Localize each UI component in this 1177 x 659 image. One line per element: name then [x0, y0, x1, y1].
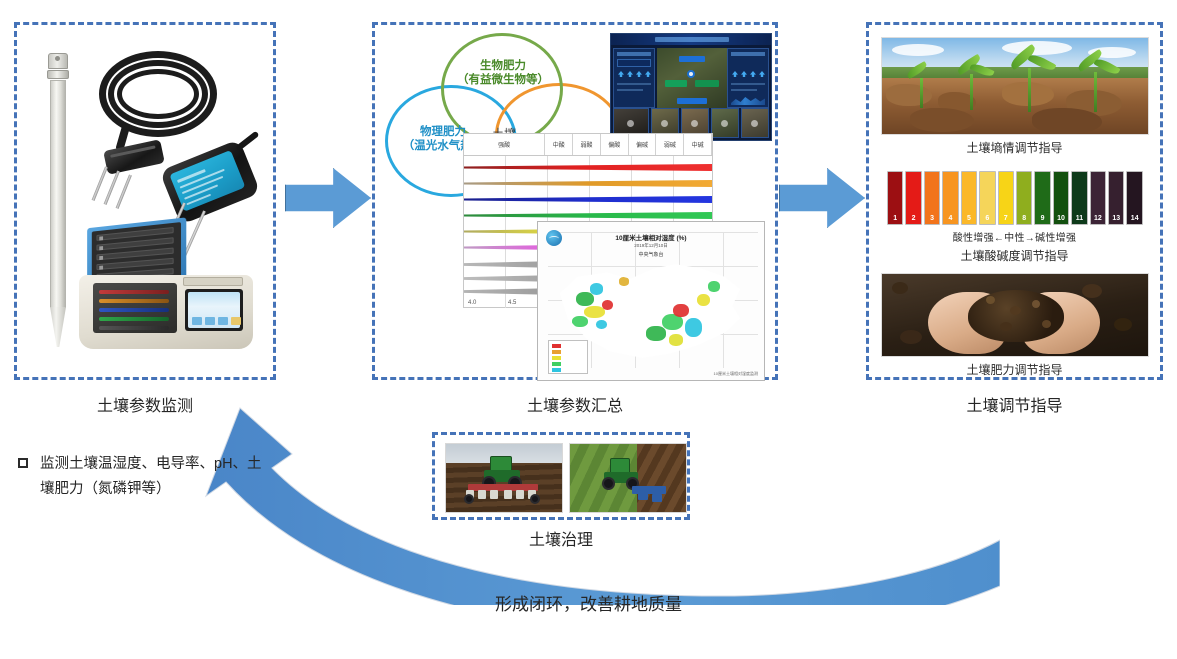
ph-swatch: 8 — [1016, 171, 1032, 225]
ph-swatch-label: 5 — [962, 215, 976, 222]
square-bullet-icon — [18, 458, 28, 468]
dashboard-right-panel — [727, 48, 769, 108]
ph-swatch: 9 — [1034, 171, 1050, 225]
sensor-head — [103, 139, 165, 175]
ph-swatch: 3 — [924, 171, 940, 225]
ph-table-header-cell: 偏酸 — [601, 134, 629, 155]
ph-swatch: 2 — [905, 171, 921, 225]
test-strip — [99, 326, 169, 330]
ph-swatch: 1 — [887, 171, 903, 225]
sensor-prong — [104, 170, 120, 205]
ph-swatch: 7 — [998, 171, 1014, 225]
ph-table-header-cell: 中酸 — [545, 134, 573, 155]
ph-swatch-label: 11 — [1072, 215, 1086, 222]
dashboard-title-bar — [611, 34, 771, 45]
analyzer-test-tray — [93, 283, 177, 333]
ph-table-header-cell: 强酸 — [464, 134, 545, 155]
china-soil-moisture-map: 10厘米土壤相对湿度 (%) 2019年12月10日 中央气象台 — [537, 221, 765, 381]
probe-tip — [50, 307, 66, 347]
ph-swatch-label: 13 — [1109, 215, 1123, 222]
camera-thumbnail — [711, 108, 739, 138]
sensor-cable-coil-core — [117, 69, 199, 119]
venn-label-biological: 生物肥力（有益微生物等） — [451, 59, 555, 88]
analyzer-display — [185, 289, 243, 331]
ph-swatch: 10 — [1053, 171, 1069, 225]
probe-cap — [48, 53, 68, 69]
ph-swatch: 4 — [942, 171, 958, 225]
ph-table-header-cell: 弱酸 — [573, 134, 601, 155]
sensor-prong — [116, 174, 132, 209]
ph-swatch-label: 6 — [980, 215, 994, 222]
ph-swatch-label: 7 — [999, 215, 1013, 222]
ph-color-scale: 1 2 3 4 5 6 7 8 9 10 11 12 13 14 — [887, 171, 1143, 225]
ph-table-header-cell: 弱碱 — [656, 134, 684, 155]
ph-swatch-label: 9 — [1035, 215, 1049, 222]
probe-screw — [55, 56, 60, 61]
sensor-prong — [92, 166, 108, 201]
compost-pile — [968, 290, 1064, 342]
dashboard-map-view — [657, 48, 727, 108]
test-strip — [99, 290, 169, 294]
caption-ph-guidance: 土壤酸碱度调节指导 — [869, 247, 1160, 264]
test-strip — [99, 299, 169, 303]
axis-tick: 4.0 — [468, 300, 476, 306]
dashboard-left-panel — [613, 48, 655, 108]
camera-thumbnail — [741, 108, 769, 138]
ph-swatch: 11 — [1071, 171, 1087, 225]
map-date: 2019年12月10日 — [538, 243, 764, 249]
ph-swatch-label: 8 — [1017, 215, 1031, 222]
ph-swatch-label: 10 — [1054, 215, 1068, 222]
ph-swatch-label: 14 — [1127, 215, 1141, 222]
monitoring-bullet-list: 监测土壤温湿度、电导率、pH、土壤肥力（氮磷钾等） — [18, 452, 268, 503]
map-footer: 10厘米土壤相对湿度监测 — [714, 371, 758, 377]
bullet-item-text: 监测土壤温湿度、电导率、pH、土壤肥力（氮磷钾等） — [40, 452, 268, 503]
ph-table-header-cell: 偏碱 — [629, 134, 657, 155]
axis-tick: 4.5 — [508, 300, 516, 306]
analyzer-printer-slot — [183, 277, 243, 286]
ph-swatch: 12 — [1090, 171, 1106, 225]
ph-swatch: 14 — [1126, 171, 1142, 225]
hands-holding-compost-photo — [881, 273, 1149, 357]
map-title: 10厘米土壤相对湿度 (%) — [538, 232, 764, 242]
ph-swatch: 5 — [961, 171, 977, 225]
test-strip — [99, 317, 169, 321]
ph-swatch-label: 2 — [906, 215, 920, 222]
corn-seedlings-photo — [881, 37, 1149, 135]
soil-probe-sensor — [47, 53, 69, 343]
benchtop-soil-nutrient-analyzer — [79, 223, 253, 355]
ph-swatch-label: 4 — [943, 215, 957, 222]
panel-soil-data-aggregation: 生物肥力（有益微生物等） 物理肥力（温光水气热） 土壤 — [372, 22, 778, 380]
caption-moisture-guidance: 土壤墒情调节指导 — [869, 139, 1160, 156]
panel-soil-adjustment-guidance: 土壤墒情调节指导 1 2 3 4 5 6 7 8 9 10 11 12 13 1… — [866, 22, 1163, 380]
diagram-canvas: 土壤参数监测 生物肥力（有益微生物等） 物理肥力（温光水气热） 土壤 — [0, 0, 1177, 659]
ph-swatch-label: 12 — [1091, 215, 1105, 222]
analyzer-base — [79, 275, 253, 349]
caption-fertility-guidance: 土壤肥力调节指导 — [869, 361, 1160, 378]
iot-monitoring-dashboard — [610, 33, 772, 141]
ph-swatch-label: 3 — [925, 215, 939, 222]
probe-body — [50, 80, 66, 308]
meter-cable — [235, 131, 259, 152]
ph-swatch-label: 1 — [888, 215, 902, 222]
curved-feedback-arrow — [200, 390, 1000, 605]
ph-table-header-row: 强酸 中酸 弱酸 偏酸 偏碱 弱碱 中碱 — [464, 134, 712, 156]
diagram-bottom-caption: 形成闭环，改善耕地质量 — [0, 590, 1177, 615]
map-source: 中央气象台 — [538, 251, 764, 258]
map-legend — [548, 340, 588, 374]
test-strip — [99, 308, 169, 312]
arrow-aggregate-to-guidance — [779, 168, 865, 228]
ph-swatch: 6 — [979, 171, 995, 225]
panel-soil-monitoring — [14, 22, 276, 380]
ph-table-header-cell: 中碱 — [684, 134, 712, 155]
bullet-item: 监测土壤温湿度、电导率、pH、土壤肥力（氮磷钾等） — [18, 452, 268, 503]
arrow-monitoring-to-aggregate — [285, 168, 371, 228]
probe-ring — [47, 70, 69, 79]
caption-ph-direction: 酸性增强←中性→碱性增强 — [869, 229, 1160, 244]
ph-swatch: 13 — [1108, 171, 1124, 225]
